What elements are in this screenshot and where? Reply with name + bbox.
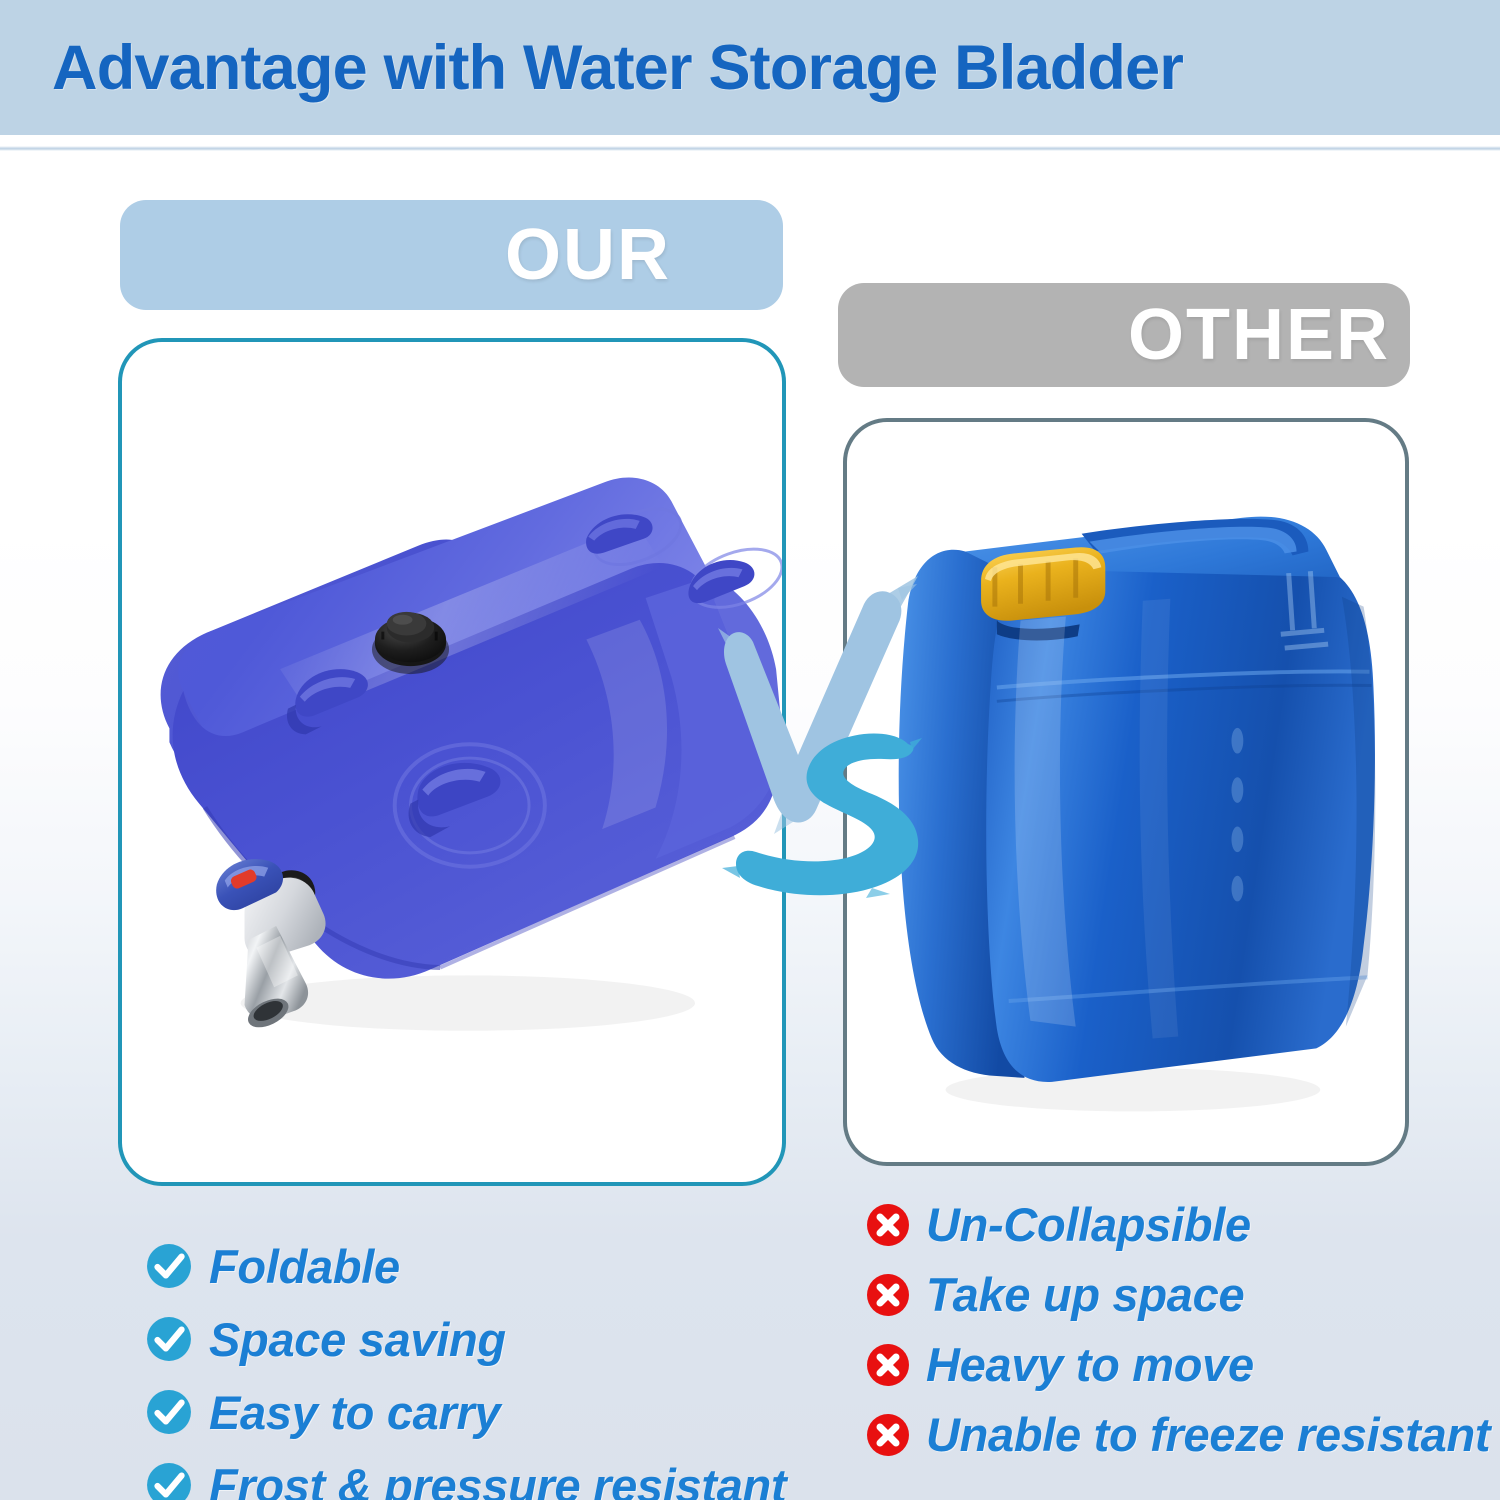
check-circle-icon [146, 1462, 192, 1500]
infographic-page: Advantage with Water Storage Bladder OUR… [0, 0, 1500, 1500]
our-product-card [118, 338, 786, 1186]
our-label-pill: OUR [120, 200, 783, 310]
header-band: Advantage with Water Storage Bladder [0, 0, 1500, 135]
feature-label: Heavy to move [926, 1337, 1254, 1392]
our-label-text: OUR [505, 219, 671, 291]
check-circle-icon [146, 1243, 192, 1289]
our-feature-list: Foldable Space saving Easy to carry Fros… [146, 1232, 786, 1500]
plastic-jerrycan-image [847, 422, 1405, 1162]
feature-item: Foldable [146, 1232, 786, 1300]
feature-item: Space saving [146, 1305, 786, 1373]
feature-label: Un-Collapsible [926, 1197, 1251, 1252]
header-divider [0, 146, 1500, 151]
check-circle-icon [146, 1316, 192, 1362]
x-circle-icon [866, 1343, 910, 1387]
water-storage-bladder-image [122, 342, 782, 1182]
other-feature-list: Un-Collapsible Take up space Heavy to mo… [866, 1192, 1490, 1472]
feature-label: Space saving [209, 1312, 506, 1367]
page-title: Advantage with Water Storage Bladder [52, 32, 1183, 104]
feature-label: Take up space [926, 1267, 1244, 1322]
feature-item: Unable to freeze resistant [866, 1402, 1490, 1467]
feature-label: Frost & pressure resistant [209, 1458, 786, 1500]
feature-item: Easy to carry [146, 1378, 786, 1446]
check-circle-icon [146, 1389, 192, 1435]
feature-item: Un-Collapsible [866, 1192, 1490, 1257]
other-label-text: OTHER [1128, 299, 1390, 371]
x-circle-icon [866, 1413, 910, 1457]
x-circle-icon [866, 1273, 910, 1317]
feature-label: Foldable [209, 1239, 400, 1294]
other-label-pill: OTHER [838, 283, 1410, 387]
feature-item: Frost & pressure resistant [146, 1451, 786, 1500]
other-product-card [843, 418, 1409, 1166]
feature-label: Unable to freeze resistant [926, 1407, 1490, 1462]
x-circle-icon [866, 1203, 910, 1247]
feature-item: Take up space [866, 1262, 1490, 1327]
feature-item: Heavy to move [866, 1332, 1490, 1397]
feature-label: Easy to carry [209, 1385, 500, 1440]
